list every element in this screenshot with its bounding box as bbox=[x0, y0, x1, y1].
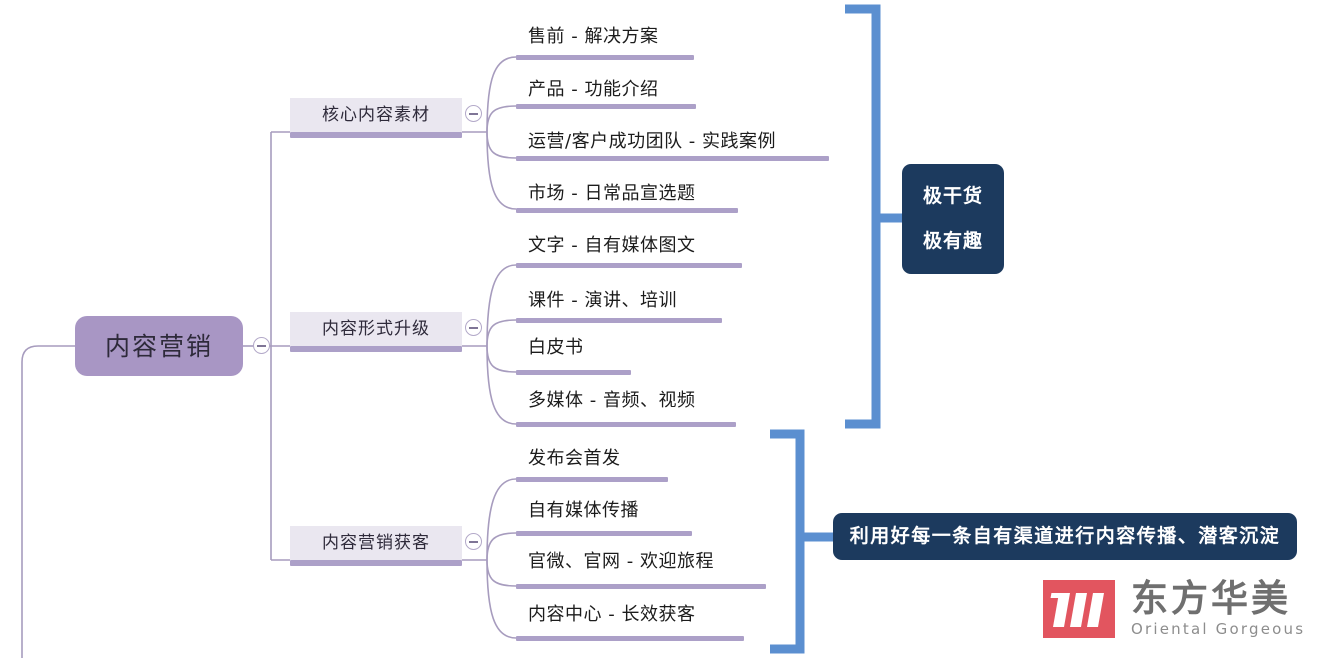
leaf-underline-bar bbox=[516, 318, 722, 323]
wire-root-trunk bbox=[271, 132, 290, 560]
leaf-underline-bar bbox=[516, 263, 742, 268]
leaf-node-label: 白皮书 bbox=[528, 339, 584, 357]
leaf-node-label: 官微、官网 - 欢迎旅程 bbox=[528, 553, 714, 571]
leaf-node-label: 运营/客户成功团队 - 实践案例 bbox=[528, 133, 776, 151]
brand-logo: 东方华美 Oriental Gorgeous bbox=[1043, 580, 1305, 638]
leaf-node-label: 课件 - 演讲、培训 bbox=[528, 292, 677, 310]
leaf-node-label: 多媒体 - 音频、视频 bbox=[528, 392, 695, 410]
leaf-underline-bar bbox=[516, 477, 668, 482]
leaf-node[interactable]: 课件 - 演讲、培训 bbox=[528, 286, 677, 316]
leaf-node[interactable]: 售前 - 解决方案 bbox=[528, 22, 658, 52]
wire-branch2-leaf1 bbox=[487, 265, 516, 346]
branch-node-core-content[interactable]: 核心内容素材 bbox=[290, 98, 462, 132]
wire-branch3-leaf3 bbox=[487, 560, 516, 586]
branch-node-content-acquisition[interactable]: 内容营销获客 bbox=[290, 526, 462, 560]
leaf-node-label: 自有媒体传播 bbox=[528, 502, 639, 520]
wire-branch1-leaf2 bbox=[487, 106, 516, 132]
leaf-underline-bar bbox=[516, 636, 744, 641]
leaf-node[interactable]: 内容中心 - 长效获客 bbox=[528, 600, 695, 630]
callout-line: 极有趣 bbox=[923, 232, 983, 251]
root-collapse-toggle-icon[interactable] bbox=[253, 337, 270, 354]
leaf-node[interactable]: 产品 - 功能介绍 bbox=[528, 75, 658, 105]
logo-name-en: Oriental Gorgeous bbox=[1131, 621, 1305, 638]
leaf-underline-bar bbox=[516, 422, 736, 427]
branch-node-label: 内容营销获客 bbox=[322, 535, 430, 552]
leaf-underline-bar bbox=[516, 156, 829, 161]
wire-branch3-leaf4 bbox=[487, 560, 516, 638]
leaf-node-label: 市场 - 日常品宣选题 bbox=[528, 185, 695, 203]
logo-mark-stroke bbox=[1087, 593, 1104, 627]
leaf-underline-bar bbox=[516, 531, 692, 536]
root-node[interactable]: 内容营销 bbox=[75, 316, 243, 376]
callout-box-bottom: 利用好每一条自有渠道进行内容传播、潜客沉淀 bbox=[833, 513, 1297, 560]
leaf-node[interactable]: 官微、官网 - 欢迎旅程 bbox=[528, 547, 714, 577]
leaf-node[interactable]: 发布会首发 bbox=[528, 444, 621, 474]
leaf-node-label: 产品 - 功能介绍 bbox=[528, 81, 658, 99]
callout-line: 利用好每一条自有渠道进行内容传播、潜客沉淀 bbox=[850, 527, 1281, 546]
bracket-top bbox=[845, 9, 876, 424]
leaf-underline-bar bbox=[516, 104, 696, 109]
logo-mark-stroke bbox=[1053, 593, 1070, 627]
branch-node-label: 内容形式升级 bbox=[322, 321, 430, 338]
logo-mark-stroke bbox=[1070, 593, 1087, 627]
leaf-underline-bar bbox=[516, 584, 766, 589]
leaf-node-label: 售前 - 解决方案 bbox=[528, 28, 658, 46]
wire-branch2-leaf3 bbox=[487, 346, 516, 372]
leaf-node[interactable]: 文字 - 自有媒体图文 bbox=[528, 231, 695, 261]
wire-branch2-leaf2 bbox=[487, 320, 516, 346]
logo-text-block: 东方华美 Oriental Gorgeous bbox=[1131, 580, 1305, 637]
callout-line: 极干货 bbox=[923, 187, 983, 206]
leaf-node[interactable]: 自有媒体传播 bbox=[528, 496, 639, 526]
callout-box-top: 极干货 极有趣 bbox=[902, 164, 1004, 274]
leaf-underline-bar bbox=[516, 370, 631, 375]
branch-node-content-format[interactable]: 内容形式升级 bbox=[290, 312, 462, 346]
wire-branch1-leaf3 bbox=[487, 132, 516, 158]
branch-collapse-toggle-icon[interactable] bbox=[465, 319, 482, 336]
leaf-node[interactable]: 白皮书 bbox=[528, 333, 584, 363]
branch-underline-bar bbox=[290, 560, 462, 566]
branch-collapse-toggle-icon[interactable] bbox=[465, 533, 482, 550]
branch-node-label: 核心内容素材 bbox=[322, 107, 430, 124]
branch-collapse-toggle-icon[interactable] bbox=[465, 105, 482, 122]
branch-underline-bar bbox=[290, 346, 462, 352]
wire-branch2-leaf4 bbox=[487, 346, 516, 424]
logo-name-cn: 东方华美 bbox=[1131, 580, 1305, 619]
wire-branch1-leaf4 bbox=[487, 132, 516, 209]
leaf-node[interactable]: 运营/客户成功团队 - 实践案例 bbox=[528, 127, 776, 157]
wire-branch3-leaf2 bbox=[487, 533, 516, 560]
bracket-bottom bbox=[770, 434, 800, 649]
wire-branch3-leaf1 bbox=[487, 479, 516, 560]
mindmap-canvas: 内容营销 核心内容素材 售前 - 解决方案 产品 - 功能介绍 运营/客户成功团… bbox=[0, 0, 1342, 658]
leaf-node[interactable]: 多媒体 - 音频、视频 bbox=[528, 386, 695, 416]
leaf-node-label: 内容中心 - 长效获客 bbox=[528, 606, 695, 624]
leaf-underline-bar bbox=[516, 55, 694, 60]
leaf-node-label: 发布会首发 bbox=[528, 450, 621, 468]
leaf-node[interactable]: 市场 - 日常品宣选题 bbox=[528, 179, 695, 209]
leaf-node-label: 文字 - 自有媒体图文 bbox=[528, 237, 695, 255]
wire-root-parent bbox=[22, 346, 75, 658]
branch-underline-bar bbox=[290, 132, 462, 138]
leaf-underline-bar bbox=[516, 208, 738, 213]
logo-mark-icon bbox=[1043, 580, 1115, 638]
wire-branch1-leaf1 bbox=[487, 57, 516, 132]
root-node-label: 内容营销 bbox=[105, 334, 213, 359]
